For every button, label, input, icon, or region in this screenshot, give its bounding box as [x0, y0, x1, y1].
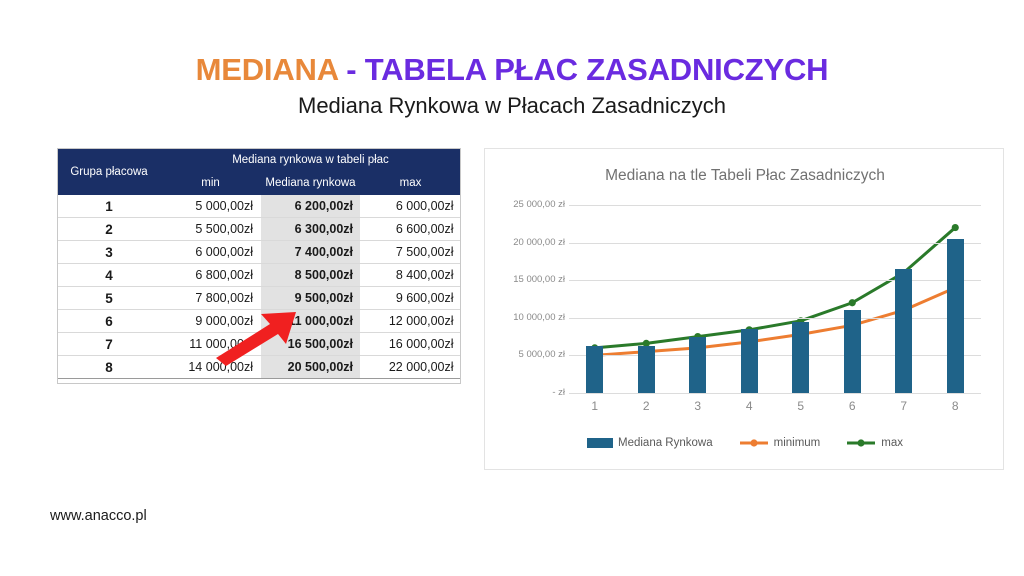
chart-x-tick-label: 3	[678, 399, 718, 413]
cell-min: 5 500,00zł	[161, 218, 261, 241]
pay-table-head: Grupa płacowa Mediana rynkowa w tabeli p…	[58, 149, 461, 195]
pay-table-container: Grupa płacowa Mediana rynkowa w tabeli p…	[57, 148, 461, 379]
cell-grupa: 4	[58, 264, 161, 287]
chart-legend-item[interactable]: Mediana Rynkowa	[587, 437, 713, 449]
chart-legend-item[interactable]: max	[846, 437, 903, 449]
chart-gridline	[569, 205, 981, 206]
table-row: 36 000,00zł7 400,00zł7 500,00zł	[58, 241, 461, 264]
cell-max: 6 600,00zł	[361, 218, 461, 241]
table-row: 15 000,00zł6 200,00zł6 000,00zł	[58, 195, 461, 218]
cell-max: 22 000,00zł	[361, 356, 461, 379]
cell-max: 6 000,00zł	[361, 195, 461, 218]
chart-x-tick-label: 4	[729, 399, 769, 413]
cell-max: 8 400,00zł	[361, 264, 461, 287]
chart-legend-item[interactable]: minimum	[739, 437, 821, 449]
chart-y-tick-label: 25 000,00 zł	[487, 199, 565, 210]
legend-label: minimum	[774, 437, 821, 449]
cell-grupa: 7	[58, 333, 161, 356]
chart-y-tick-label: 20 000,00 zł	[487, 237, 565, 248]
header-min: min	[161, 172, 261, 195]
chart-legend: Mediana Rynkowaminimummax	[485, 437, 1005, 449]
cell-min: 5 000,00zł	[161, 195, 261, 218]
cell-mediana: 16 500,00zł	[261, 333, 361, 356]
chart-y-tick-label: 15 000,00 zł	[487, 274, 565, 285]
cell-mediana: 9 500,00zł	[261, 287, 361, 310]
cell-min: 11 000,00zł	[161, 333, 261, 356]
page-title-orange: MEDIANA	[196, 52, 338, 87]
slide-canvas: MEDIANA - TABELA PŁAC ZASADNICZYCH Media…	[0, 0, 1024, 576]
cell-max: 16 000,00zł	[361, 333, 461, 356]
chart-title: Mediana na tle Tabeli Płac Zasadniczych	[485, 167, 1005, 185]
chart-bar	[895, 269, 912, 393]
chart-x-tick-label: 7	[884, 399, 924, 413]
chart-bar	[586, 346, 603, 393]
header-grupa-placowa: Grupa płacowa	[58, 149, 161, 195]
table-header-row-top: Grupa płacowa Mediana rynkowa w tabeli p…	[58, 149, 461, 172]
chart-x-tick-label: 6	[832, 399, 872, 413]
pay-table: Grupa płacowa Mediana rynkowa w tabeli p…	[57, 148, 461, 379]
chart-y-tick-label: - zł	[487, 387, 565, 398]
legend-label: Mediana Rynkowa	[618, 437, 713, 449]
cell-max: 9 600,00zł	[361, 287, 461, 310]
cell-mediana: 8 500,00zł	[261, 264, 361, 287]
chart-series-overlay	[569, 205, 981, 393]
cell-grupa: 2	[58, 218, 161, 241]
chart-plot-area	[569, 205, 981, 393]
footer-website: www.anacco.pl	[50, 508, 147, 524]
table-row: 69 000,00zł11 000,00zł12 000,00zł	[58, 310, 461, 333]
chart-x-tick-label: 2	[626, 399, 666, 413]
chart-x-tick-label: 8	[935, 399, 975, 413]
cell-mediana: 6 200,00zł	[261, 195, 361, 218]
chart-bar	[792, 322, 809, 393]
header-mediana-rynkowa-span: Mediana rynkowa w tabeli płac	[161, 149, 461, 172]
legend-line-swatch-icon	[846, 437, 876, 449]
cell-mediana: 6 300,00zł	[261, 218, 361, 241]
chart-bar	[689, 337, 706, 393]
cell-min: 7 800,00zł	[161, 287, 261, 310]
cell-grupa: 3	[58, 241, 161, 264]
legend-bar-swatch-icon	[587, 438, 613, 448]
cell-grupa: 1	[58, 195, 161, 218]
table-row: 57 800,00zł9 500,00zł9 600,00zł	[58, 287, 461, 310]
chart-gridline	[569, 393, 981, 394]
chart-panel: Mediana na tle Tabeli Płac Zasadniczych …	[484, 148, 1004, 470]
chart-bar	[947, 239, 964, 393]
chart-x-tick-label: 5	[781, 399, 821, 413]
cell-mediana: 20 500,00zł	[261, 356, 361, 379]
cell-mediana: 11 000,00zł	[261, 310, 361, 333]
header-max: max	[361, 172, 461, 195]
chart-point	[849, 299, 856, 306]
cell-grupa: 6	[58, 310, 161, 333]
chart-gridline	[569, 318, 981, 319]
chart-gridline	[569, 243, 981, 244]
chart-point	[952, 224, 959, 231]
page-title: MEDIANA - TABELA PŁAC ZASADNICZYCH	[0, 52, 1024, 88]
cell-min: 6 000,00zł	[161, 241, 261, 264]
chart-bar	[844, 310, 861, 393]
cell-max: 7 500,00zł	[361, 241, 461, 264]
table-row: 25 500,00zł6 300,00zł6 600,00zł	[58, 218, 461, 241]
table-row: 814 000,00zł20 500,00zł22 000,00zł	[58, 356, 461, 379]
chart-bar	[741, 329, 758, 393]
chart-gridline	[569, 280, 981, 281]
cell-mediana: 7 400,00zł	[261, 241, 361, 264]
legend-label: max	[881, 437, 903, 449]
header-mediana-rynkowa: Mediana rynkowa	[261, 172, 361, 195]
page-subtitle: Mediana Rynkowa w Płacach Zasadniczych	[0, 93, 1024, 119]
pay-table-body: 15 000,00zł6 200,00zł6 000,00zł25 500,00…	[58, 195, 461, 379]
cell-min: 9 000,00zł	[161, 310, 261, 333]
cell-grupa: 5	[58, 287, 161, 310]
table-row: 711 000,00zł16 500,00zł16 000,00zł	[58, 333, 461, 356]
table-row: 46 800,00zł8 500,00zł8 400,00zł	[58, 264, 461, 287]
cell-max: 12 000,00zł	[361, 310, 461, 333]
chart-y-tick-label: 5 000,00 zł	[487, 349, 565, 360]
legend-line-swatch-icon	[739, 437, 769, 449]
chart-x-tick-label: 1	[575, 399, 615, 413]
chart-y-axis: - zł5 000,00 zł10 000,00 zł15 000,00 zł2…	[485, 205, 565, 393]
chart-y-tick-label: 10 000,00 zł	[487, 312, 565, 323]
cell-min: 14 000,00zł	[161, 356, 261, 379]
chart-gridline	[569, 355, 981, 356]
cell-min: 6 800,00zł	[161, 264, 261, 287]
chart-bar	[638, 346, 655, 393]
cell-grupa: 8	[58, 356, 161, 379]
page-title-purple: - TABELA PŁAC ZASADNICZYCH	[346, 52, 828, 87]
